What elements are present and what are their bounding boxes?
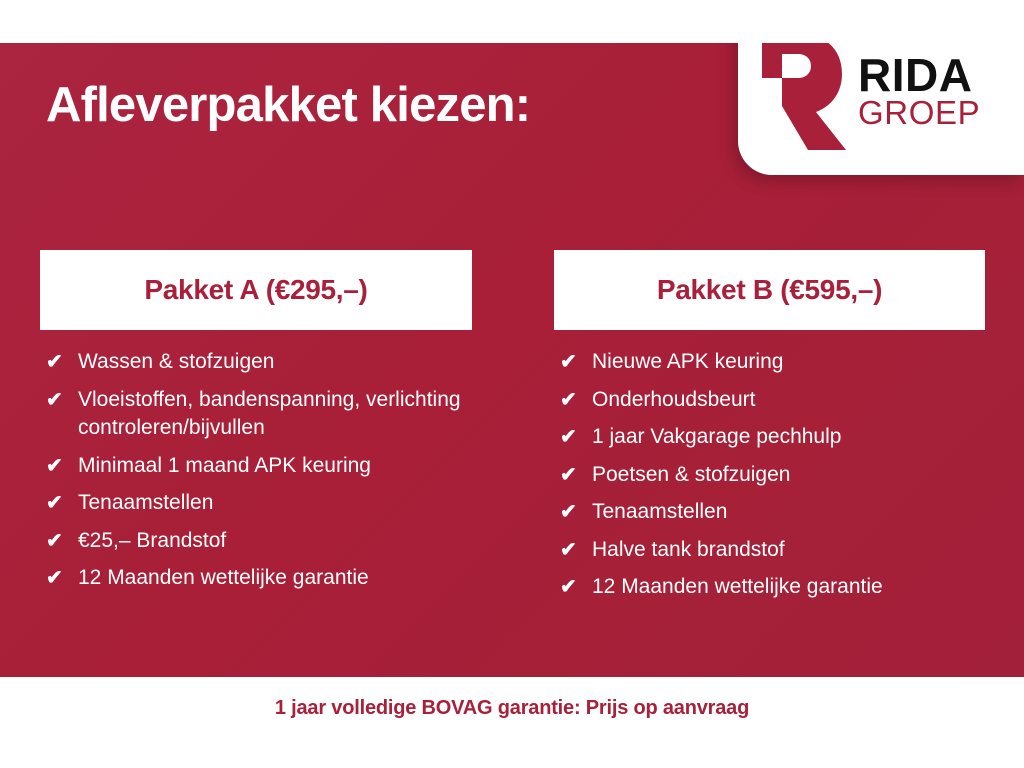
list-item: ✔ €25,– Brandstof: [40, 527, 472, 556]
list-item: ✔ Tenaamstellen: [40, 489, 472, 518]
package-b-title: Pakket B (€595,–): [657, 274, 882, 306]
list-item-label: Vloeistoffen, bandenspanning, verlichtin…: [78, 386, 472, 443]
list-item-label: 12 Maanden wettelijke garantie: [78, 564, 472, 593]
footer-bar: 1 jaar volledige BOVAG garantie: Prijs o…: [0, 677, 1024, 768]
package-b-header: Pakket B (€595,–): [554, 250, 985, 330]
check-icon: ✔: [46, 489, 70, 517]
list-item: ✔ Poetsen & stofzuigen: [554, 461, 985, 490]
list-item-label: Nieuwe APK keuring: [592, 348, 985, 377]
list-item-label: Onderhoudsbeurt: [592, 386, 985, 415]
check-icon: ✔: [560, 573, 584, 601]
list-item: ✔ Minimaal 1 maand APK keuring: [40, 452, 472, 481]
package-card-b[interactable]: Pakket B (€595,–) ✔ Nieuwe APK keuring ✔…: [554, 250, 985, 611]
check-icon: ✔: [46, 527, 70, 555]
package-columns: Pakket A (€295,–) ✔ Wassen & stofzuigen …: [0, 43, 1024, 677]
check-icon: ✔: [560, 423, 584, 451]
list-item-label: Halve tank brandstof: [592, 536, 985, 565]
package-a-title: Pakket A (€295,–): [144, 274, 367, 306]
list-item-label: €25,– Brandstof: [78, 527, 472, 556]
check-icon: ✔: [46, 452, 70, 480]
red-background-panel: Afleverpakket kiezen: RIDA GROEP Pakket …: [0, 43, 1024, 677]
check-icon: ✔: [46, 348, 70, 376]
list-item-label: Tenaamstellen: [78, 489, 472, 518]
list-item: ✔ Onderhoudsbeurt: [554, 386, 985, 415]
check-icon: ✔: [560, 348, 584, 376]
slide-root: Afleverpakket kiezen: RIDA GROEP Pakket …: [0, 0, 1024, 768]
list-item: ✔ Halve tank brandstof: [554, 536, 985, 565]
check-icon: ✔: [46, 564, 70, 592]
list-item: ✔ Tenaamstellen: [554, 498, 985, 527]
list-item: ✔ 12 Maanden wettelijke garantie: [40, 564, 472, 593]
list-item: ✔ 12 Maanden wettelijke garantie: [554, 573, 985, 602]
package-a-header: Pakket A (€295,–): [40, 250, 472, 330]
list-item-label: 12 Maanden wettelijke garantie: [592, 573, 985, 602]
package-b-feature-list: ✔ Nieuwe APK keuring ✔ Onderhoudsbeurt ✔…: [554, 348, 985, 602]
check-icon: ✔: [560, 498, 584, 526]
package-card-a[interactable]: Pakket A (€295,–) ✔ Wassen & stofzuigen …: [40, 250, 472, 602]
list-item: ✔ Nieuwe APK keuring: [554, 348, 985, 377]
list-item-label: Poetsen & stofzuigen: [592, 461, 985, 490]
check-icon: ✔: [560, 461, 584, 489]
list-item-label: Tenaamstellen: [592, 498, 985, 527]
check-icon: ✔: [46, 386, 70, 414]
list-item-label: 1 jaar Vakgarage pechhulp: [592, 423, 985, 452]
list-item: ✔ Vloeistoffen, bandenspanning, verlicht…: [40, 386, 472, 443]
list-item: ✔ 1 jaar Vakgarage pechhulp: [554, 423, 985, 452]
list-item-label: Wassen & stofzuigen: [78, 348, 472, 377]
list-item: ✔ Wassen & stofzuigen: [40, 348, 472, 377]
check-icon: ✔: [560, 386, 584, 414]
list-item-label: Minimaal 1 maand APK keuring: [78, 452, 472, 481]
package-a-feature-list: ✔ Wassen & stofzuigen ✔ Vloeistoffen, ba…: [40, 348, 472, 593]
check-icon: ✔: [560, 536, 584, 564]
footer-note: 1 jaar volledige BOVAG garantie: Prijs o…: [0, 697, 1024, 720]
